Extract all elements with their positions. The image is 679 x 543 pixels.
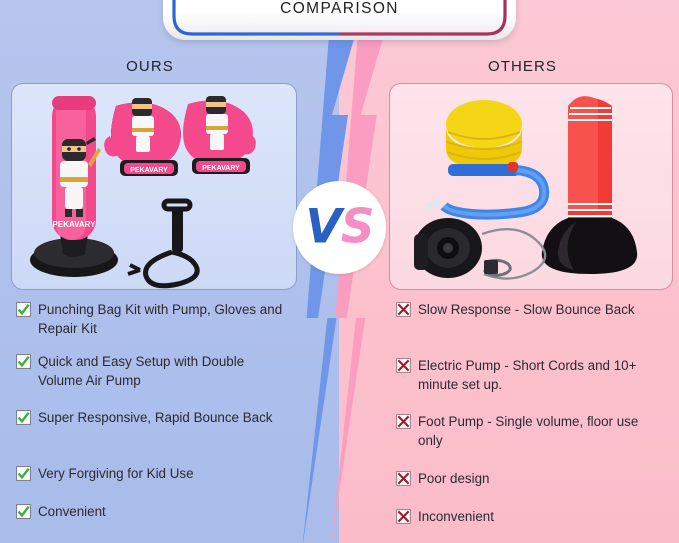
right-column-heading: OTHERS	[380, 58, 665, 75]
vs-label: VS	[293, 203, 386, 250]
svg-text:PEKAVARY: PEKAVARY	[130, 167, 168, 174]
cross-box-icon	[396, 414, 411, 429]
vs-badge: VS	[293, 181, 386, 274]
check-box-icon	[16, 410, 31, 425]
list-item-label: Slow Response - Slow Bounce Back	[411, 300, 635, 319]
cross-box-icon	[396, 509, 411, 524]
list-item-label: Very Forgiving for Kid Use	[31, 464, 194, 483]
comparison-banner: COMPARISON	[163, 0, 516, 40]
list-item-label: Super Responsive, Rapid Bounce Back	[31, 408, 272, 427]
check-box-icon	[16, 354, 31, 369]
list-item-label: Inconvenient	[411, 507, 494, 526]
list-item: Quick and Easy Setup with Double Volume …	[16, 352, 288, 390]
ours-product-image: PEKAVARY PEKAVARY PEKAVARY	[11, 83, 297, 290]
list-item-label: Punching Bag Kit with Pump, Gloves and R…	[31, 300, 288, 338]
list-item: Electric Pump - Short Cords and 10+ minu…	[396, 356, 664, 394]
list-item-label: Electric Pump - Short Cords and 10+ minu…	[411, 356, 664, 394]
svg-text:PEKAVARY: PEKAVARY	[53, 220, 97, 229]
cross-box-icon	[396, 471, 411, 486]
others-product-image	[389, 83, 673, 290]
list-item-label: Poor design	[411, 469, 489, 488]
list-item: Convenient	[16, 502, 288, 521]
vs-right-letter: S	[341, 199, 374, 254]
list-item-label: Convenient	[31, 502, 106, 521]
cross-box-icon	[396, 302, 411, 317]
list-item: Slow Response - Slow Bounce Back	[396, 300, 664, 319]
vs-left-letter: V	[305, 199, 340, 254]
banner-title: COMPARISON	[163, 0, 516, 18]
svg-text:PEKAVARY: PEKAVARY	[202, 165, 240, 172]
list-item: Punching Bag Kit with Pump, Gloves and R…	[16, 300, 288, 338]
cross-box-icon	[396, 358, 411, 373]
check-box-icon	[16, 466, 31, 481]
list-item-label: Foot Pump - Single volume, floor use onl…	[411, 412, 664, 450]
list-item: Super Responsive, Rapid Bounce Back	[16, 408, 288, 427]
list-item: Poor design	[396, 469, 664, 488]
check-box-icon	[16, 302, 31, 317]
list-item-label: Quick and Easy Setup with Double Volume …	[31, 352, 288, 390]
ours-feature-list: Punching Bag Kit with Pump, Gloves and R…	[16, 300, 288, 521]
check-box-icon	[16, 504, 31, 519]
left-column-heading: OURS	[0, 58, 300, 75]
others-feature-list: Slow Response - Slow Bounce Back Electri…	[396, 300, 664, 526]
list-item: Inconvenient	[396, 507, 664, 526]
comparison-infographic: COMPARISON OURS OTHERS PEKAVARY	[0, 0, 679, 543]
list-item: Very Forgiving for Kid Use	[16, 464, 288, 483]
list-item: Foot Pump - Single volume, floor use onl…	[396, 412, 664, 450]
